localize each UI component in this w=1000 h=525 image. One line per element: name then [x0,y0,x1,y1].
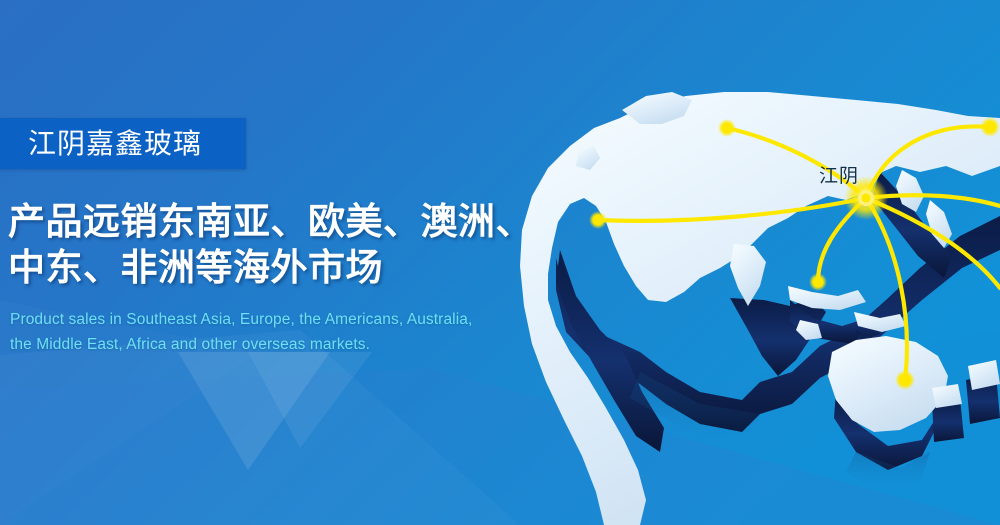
map-hub-label: 江阴 [819,167,859,186]
banner-text-block: 江阴嘉鑫玻璃 产品远销东南亚、欧美、澳洲、 中东、非洲等海外市场 Product… [0,0,600,525]
promo-banner: 江阴 江阴嘉鑫玻璃 产品远销东南亚、欧美、澳洲、 中东、非洲等海外市场 Prod… [0,0,1000,525]
headline-text: 产品远销东南亚、欧美、澳洲、 中东、非洲等海外市场 [8,199,588,291]
route-endpoints [589,117,1000,390]
brand-badge-label: 江阴嘉鑫玻璃 [28,130,202,158]
subheadline-text: Product sales in Southeast Asia, Europe,… [10,307,590,357]
brand-badge: 江阴嘉鑫玻璃 [0,118,246,169]
